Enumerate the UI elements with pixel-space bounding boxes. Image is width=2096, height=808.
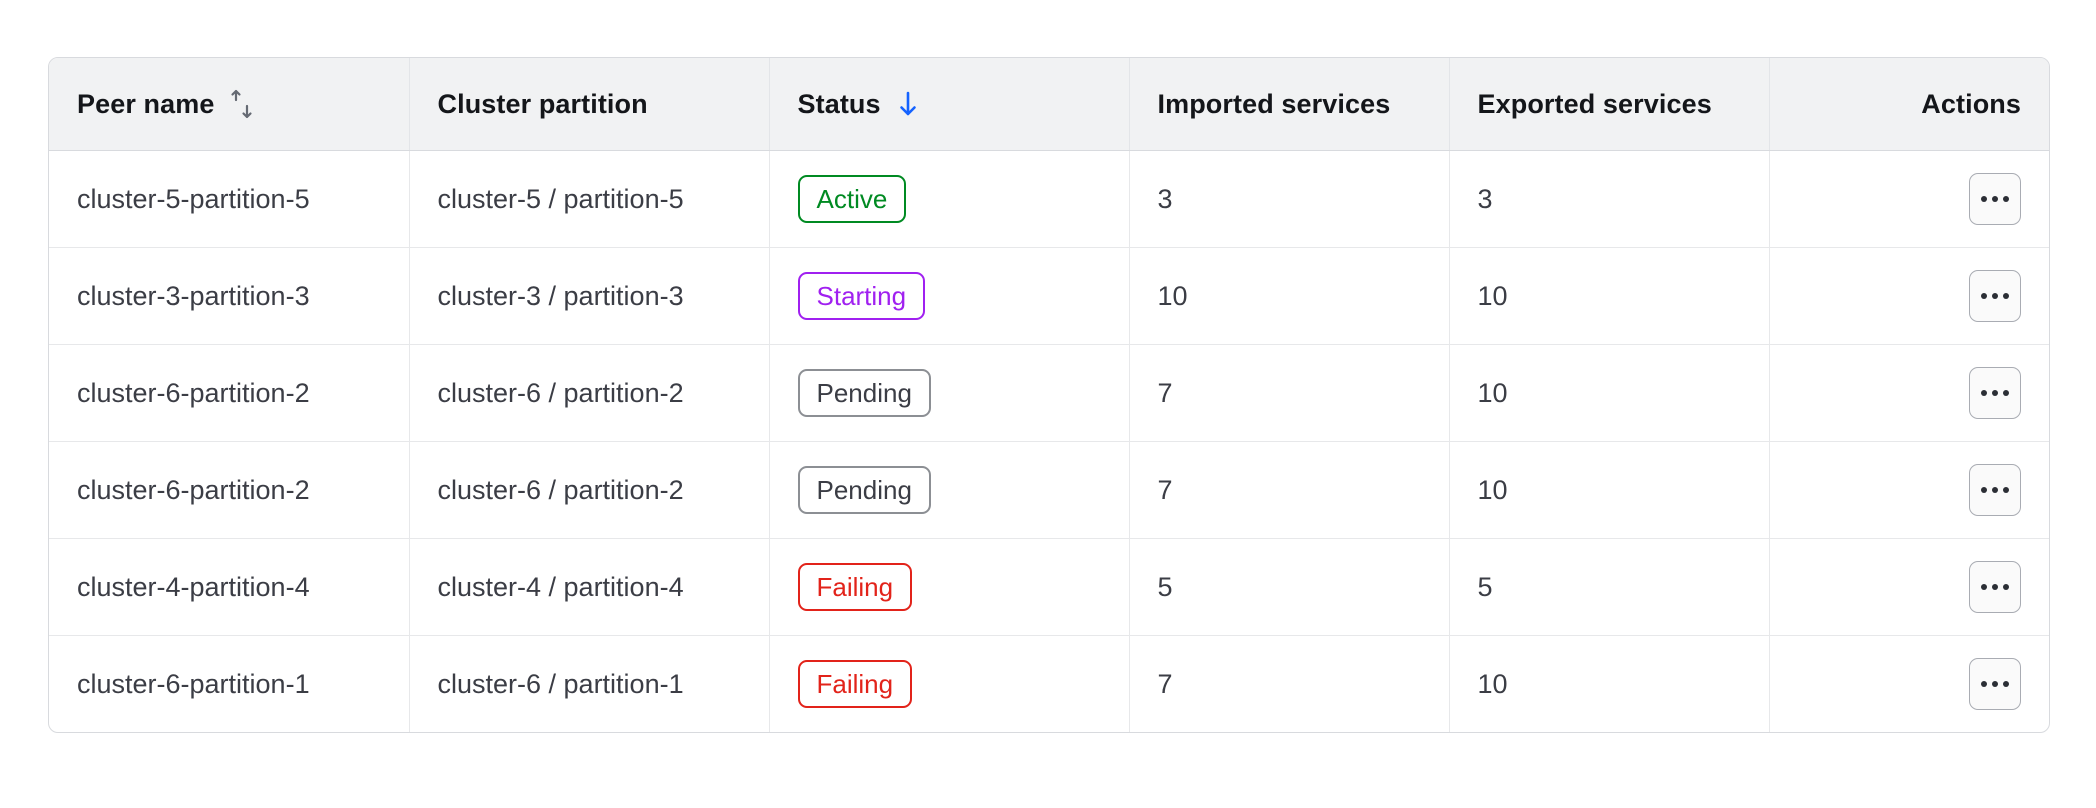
cell-cluster-partition: cluster-6 / partition-2 [409,345,769,442]
cell-exported-services: 10 [1449,636,1769,733]
cell-peer-name: cluster-4-partition-4 [49,539,409,636]
column-header-label: Status [798,89,881,120]
cell-actions [1769,442,2049,539]
column-header-status[interactable]: Status [769,58,1129,151]
column-header-label: Exported services [1478,89,1712,120]
cell-status: Failing [769,636,1129,733]
status-badge: Starting [798,272,926,320]
cell-exported-services: 10 [1449,248,1769,345]
table-row: cluster-6-partition-2 cluster-6 / partit… [49,442,2049,539]
cell-peer-name: cluster-6-partition-1 [49,636,409,733]
row-actions-button[interactable] [1969,173,2021,225]
row-actions-button[interactable] [1969,464,2021,516]
peers-table: Peer name Cluster partition [49,58,2049,732]
cell-peer-name: cluster-3-partition-3 [49,248,409,345]
table-row: cluster-6-partition-2 cluster-6 / partit… [49,345,2049,442]
column-header-label: Imported services [1158,89,1391,120]
table-row: cluster-3-partition-3 cluster-3 / partit… [49,248,2049,345]
column-header-label: Actions [1921,89,2021,120]
cell-cluster-partition: cluster-3 / partition-3 [409,248,769,345]
peers-table-card: Peer name Cluster partition [48,57,2050,733]
cell-peer-name: cluster-5-partition-5 [49,151,409,248]
cell-cluster-partition: cluster-4 / partition-4 [409,539,769,636]
cell-exported-services: 3 [1449,151,1769,248]
cell-imported-services: 7 [1129,345,1449,442]
cell-imported-services: 7 [1129,636,1449,733]
cell-actions [1769,345,2049,442]
table-header-row: Peer name Cluster partition [49,58,2049,151]
cell-cluster-partition: cluster-6 / partition-1 [409,636,769,733]
column-header-label: Cluster partition [438,89,648,120]
cell-actions [1769,539,2049,636]
page-root: Peer name Cluster partition [0,0,2096,808]
cell-imported-services: 5 [1129,539,1449,636]
cell-actions [1769,248,2049,345]
cell-actions [1769,636,2049,733]
table-row: cluster-4-partition-4 cluster-4 / partit… [49,539,2049,636]
status-badge: Failing [798,660,913,708]
ellipsis-icon [1981,390,2009,396]
cell-actions [1769,151,2049,248]
row-actions-button[interactable] [1969,367,2021,419]
row-actions-button[interactable] [1969,270,2021,322]
cell-imported-services: 3 [1129,151,1449,248]
cell-status: Pending [769,442,1129,539]
column-header-exported-services[interactable]: Exported services [1449,58,1769,151]
cell-peer-name: cluster-6-partition-2 [49,345,409,442]
cell-exported-services: 10 [1449,345,1769,442]
cell-exported-services: 5 [1449,539,1769,636]
column-header-peer-name[interactable]: Peer name [49,58,409,151]
cell-status: Failing [769,539,1129,636]
cell-status: Starting [769,248,1129,345]
status-badge: Pending [798,466,931,514]
ellipsis-icon [1981,487,2009,493]
ellipsis-icon [1981,196,2009,202]
cell-imported-services: 10 [1129,248,1449,345]
table-row: cluster-5-partition-5 cluster-5 / partit… [49,151,2049,248]
row-actions-button[interactable] [1969,561,2021,613]
table-row: cluster-6-partition-1 cluster-6 / partit… [49,636,2049,733]
table-header: Peer name Cluster partition [49,58,2049,151]
cell-status: Pending [769,345,1129,442]
cell-exported-services: 10 [1449,442,1769,539]
arrow-down-icon[interactable] [895,89,921,119]
ellipsis-icon [1981,681,2009,687]
status-badge: Failing [798,563,913,611]
status-badge: Pending [798,369,931,417]
column-header-imported-services[interactable]: Imported services [1129,58,1449,151]
cell-cluster-partition: cluster-5 / partition-5 [409,151,769,248]
column-header-cluster-partition[interactable]: Cluster partition [409,58,769,151]
cell-peer-name: cluster-6-partition-2 [49,442,409,539]
table-body: cluster-5-partition-5 cluster-5 / partit… [49,151,2049,733]
ellipsis-icon [1981,293,2009,299]
ellipsis-icon [1981,584,2009,590]
cell-imported-services: 7 [1129,442,1449,539]
column-header-label: Peer name [77,89,214,120]
status-badge: Active [798,175,907,223]
cell-status: Active [769,151,1129,248]
column-header-actions: Actions [1769,58,2049,151]
sort-ascending-descending-icon[interactable] [228,88,256,120]
cell-cluster-partition: cluster-6 / partition-2 [409,442,769,539]
row-actions-button[interactable] [1969,658,2021,710]
